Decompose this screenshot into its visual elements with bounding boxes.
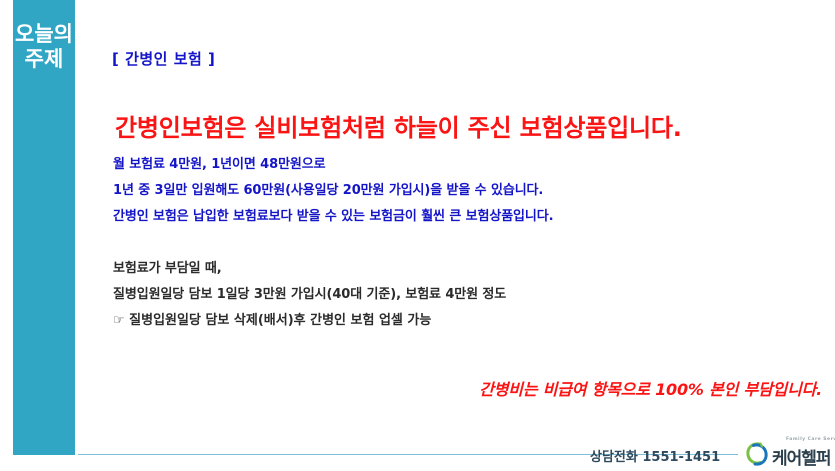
footer: 상담전화 1551-1451 Family Care Service 케어헬퍼: [590, 436, 835, 470]
emphasis-note: 간병비는 비급여 항목으로 100% 본인 부담입니다.: [479, 376, 822, 400]
paragraph-dark-line-1: 보험료가 부담일 때,: [113, 256, 506, 282]
paragraph-dark: 보험료가 부담일 때, 질병입원일당 담보 1일당 3만원 가입시(40대 기준…: [113, 256, 506, 334]
headline: 간병인보험은 실비보험처럼 하늘이 주신 보험상품입니다.: [115, 108, 682, 143]
paragraph-blue-line-1: 월 보험료 4만원, 1년이면 48만원으로: [113, 152, 553, 178]
sidebar-label-todays-topic: 오늘의 주제: [13, 22, 75, 72]
sidebar: 오늘의 주제: [13, 0, 75, 455]
care-swirl-icon: [744, 441, 770, 467]
slide-canvas: 오늘의 주제 [ 간병인 보험 ] 간병인보험은 실비보험처럼 하늘이 주신 보…: [0, 0, 835, 470]
brand-logo: Family Care Service 케어헬퍼: [742, 436, 835, 470]
paragraph-blue-line-3: 간병인 보험은 납입한 보험료보다 받을 수 있는 보험금이 훨씬 큰 보험상품…: [113, 204, 553, 230]
logo-wordmark: 케어헬퍼: [772, 444, 831, 469]
content-area: [ 간병인 보험 ] 간병인보험은 실비보험처럼 하늘이 주신 보험상품입니다.…: [112, 0, 827, 470]
paragraph-blue-line-2: 1년 중 3일만 입원해도 60만원(사용일당 20만원 가입시)을 받을 수 …: [113, 178, 553, 204]
logo-tagline: Family Care Service: [786, 437, 835, 442]
footer-phone-label: 상담전화 1551-1451: [590, 446, 720, 465]
paragraph-dark-line-2: 질병입원일당 담보 1일당 3만원 가입시(40대 기준), 보험료 4만원 정…: [113, 282, 506, 308]
paragraph-blue: 월 보험료 4만원, 1년이면 48만원으로 1년 중 3일만 입원해도 60만…: [113, 152, 553, 230]
bracket-title: [ 간병인 보험 ]: [112, 48, 215, 69]
paragraph-dark-line-3-pointing-hand: ☞ 질병입원일당 담보 삭제(배서)후 간병인 보험 업셀 가능: [113, 308, 506, 334]
